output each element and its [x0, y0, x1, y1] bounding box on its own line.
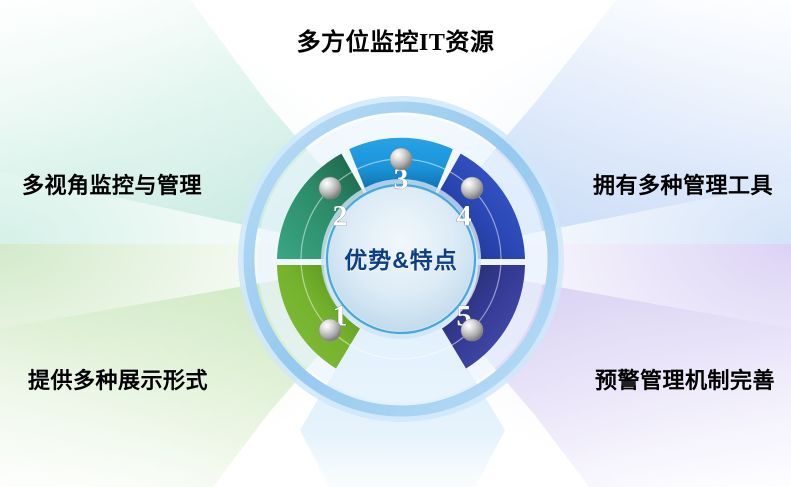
sphere-marker-3[interactable] — [390, 148, 412, 170]
label-top: 多方位监控IT资源 — [0, 22, 791, 57]
infographic-canvas: 多方位监控IT资源 多视角监控与管理 提供多种展示形式 拥有多种管理工具 预警管… — [0, 0, 791, 487]
sphere-marker-1[interactable] — [319, 319, 341, 341]
label-bottom-left: 提供多种展示形式 — [28, 363, 208, 395]
segment-number-2: 2 — [333, 200, 348, 233]
segment-number-4: 4 — [457, 200, 472, 233]
label-top-right: 拥有多种管理工具 — [593, 168, 773, 200]
donut-wheel-diagram: 3 2 1 4 5 优势&特点 — [236, 94, 566, 424]
sphere-marker-4[interactable] — [461, 177, 483, 199]
sphere-marker-2[interactable] — [319, 177, 341, 199]
label-top-left: 多视角监控与管理 — [22, 168, 202, 200]
center-label: 优势&特点 — [236, 241, 566, 275]
sphere-marker-5[interactable] — [461, 319, 483, 341]
label-bottom-right: 预警管理机制完善 — [595, 363, 775, 395]
